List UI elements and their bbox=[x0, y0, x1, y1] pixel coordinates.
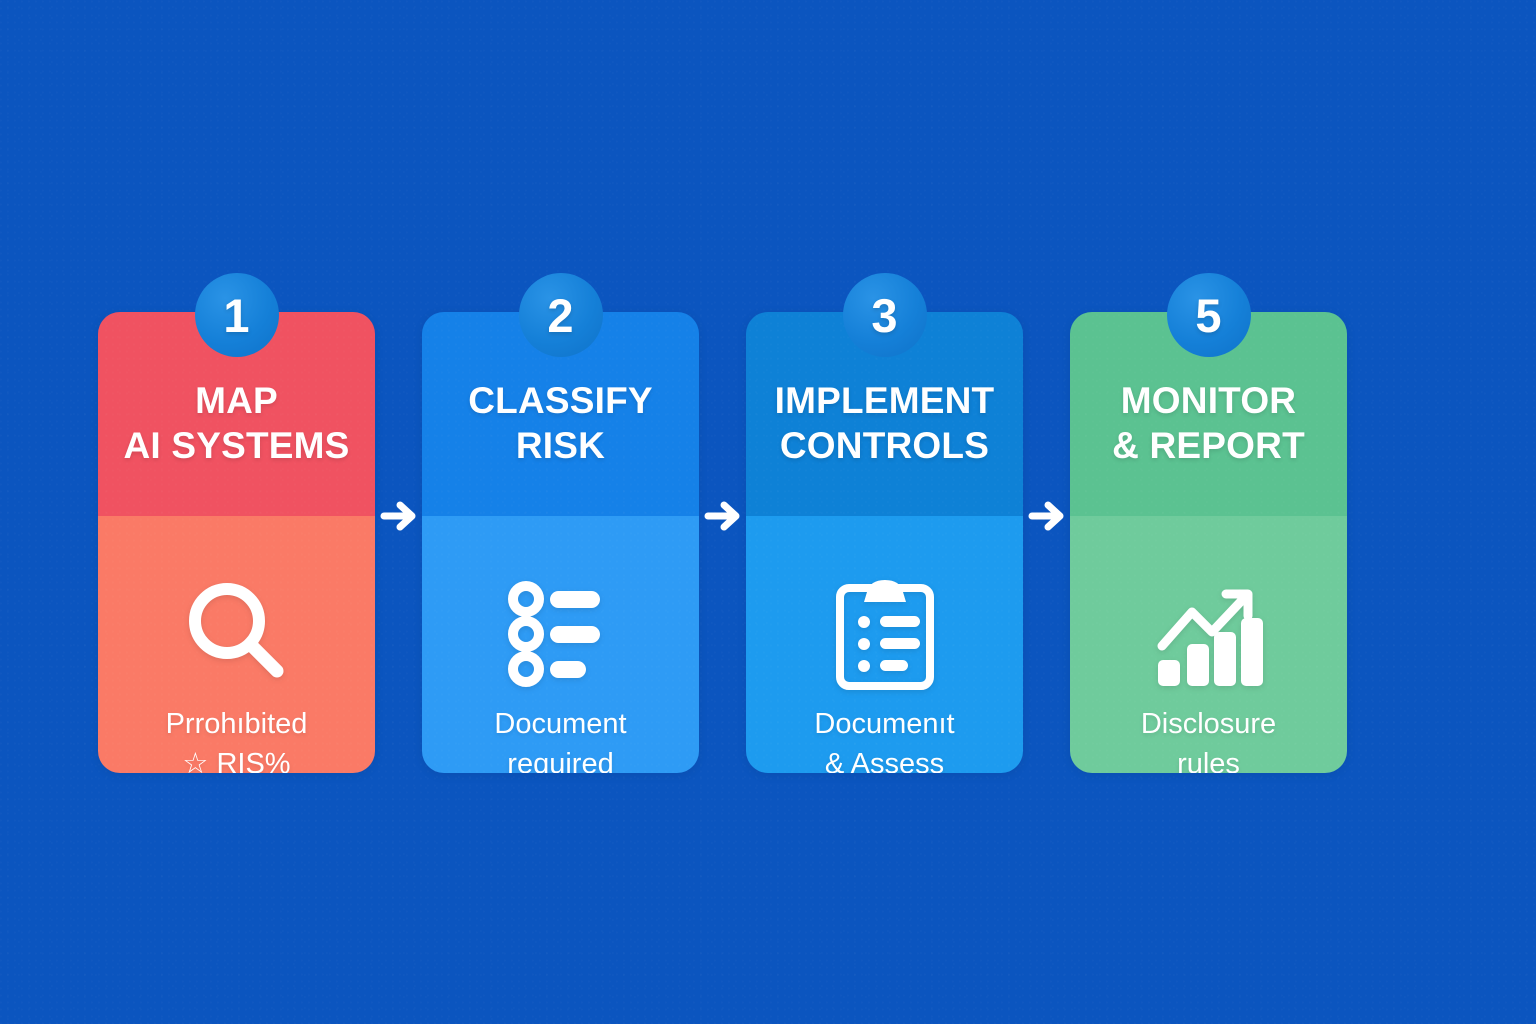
step-card-3[interactable]: IMPLEMENT CONTROLS Documenıt & Assess bbox=[746, 312, 1023, 773]
step-card-4[interactable]: MONITOR & REPORT Disclosure rules bbox=[1070, 312, 1347, 773]
step-number-2: 2 bbox=[547, 292, 573, 339]
flow-connector-3 bbox=[1023, 273, 1070, 773]
flow-connector-2 bbox=[699, 273, 746, 773]
step-number-3: 3 bbox=[871, 292, 897, 339]
process-step-3[interactable]: IMPLEMENT CONTROLS Documenıt & Assess bbox=[746, 273, 1023, 773]
step-number-4: 5 bbox=[1195, 292, 1221, 339]
step-card-1[interactable]: MAP AI SYSTEMS Prrohıbited ☆ RIS% bbox=[98, 312, 375, 773]
growth-chart-icon bbox=[1150, 574, 1268, 692]
process-step-4[interactable]: MONITOR & REPORT Disclosure rules 5 bbox=[1070, 273, 1347, 773]
step-caption-3: Documenıt & Assess bbox=[746, 704, 1023, 773]
arrow-right-icon bbox=[702, 495, 744, 537]
step-caption-2: Document required bbox=[422, 704, 699, 773]
process-step-2[interactable]: CLASSIFY RISK Document required 2 bbox=[422, 273, 699, 773]
step-card-2[interactable]: CLASSIFY RISK Document required bbox=[422, 312, 699, 773]
step-title-2: CLASSIFY RISK bbox=[422, 378, 699, 468]
infographic-canvas: MAP AI SYSTEMS Prrohıbited ☆ RIS% 1 bbox=[0, 0, 1536, 1024]
step-number-1: 1 bbox=[223, 292, 249, 339]
bullet-list-icon bbox=[502, 574, 620, 692]
step-title-4: MONITOR & REPORT bbox=[1070, 378, 1347, 468]
step-title-1: MAP AI SYSTEMS bbox=[98, 378, 375, 468]
step-badge-1: 1 bbox=[195, 273, 279, 357]
step-title-3: IMPLEMENT CONTROLS bbox=[746, 378, 1023, 468]
arrow-right-icon bbox=[1026, 495, 1068, 537]
step-caption-1: Prrohıbited ☆ RIS% bbox=[98, 704, 375, 773]
clipboard-checklist-icon bbox=[826, 574, 944, 692]
magnifier-icon bbox=[178, 574, 296, 692]
flow-connector-1 bbox=[375, 273, 422, 773]
step-badge-2: 2 bbox=[519, 273, 603, 357]
step-badge-4: 5 bbox=[1167, 273, 1251, 357]
step-badge-3: 3 bbox=[843, 273, 927, 357]
process-step-1[interactable]: MAP AI SYSTEMS Prrohıbited ☆ RIS% 1 bbox=[98, 273, 375, 773]
process-flow: MAP AI SYSTEMS Prrohıbited ☆ RIS% 1 bbox=[98, 273, 1354, 773]
arrow-right-icon bbox=[378, 495, 420, 537]
step-caption-4: Disclosure rules bbox=[1070, 704, 1347, 773]
